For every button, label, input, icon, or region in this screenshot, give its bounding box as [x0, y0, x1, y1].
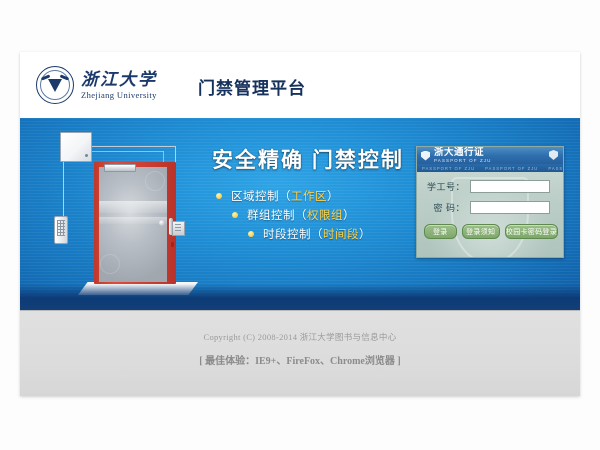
access-control-door-illustration	[44, 124, 204, 306]
wire-top-icon	[90, 146, 176, 148]
keypad-keys-icon	[57, 220, 65, 236]
login-title-cn: 浙大通行证	[434, 148, 492, 158]
red-door-frame	[94, 162, 176, 284]
card-reader-icon	[172, 221, 185, 236]
field-password: 密 码：	[425, 201, 563, 214]
page-title: 门禁管理平台	[198, 74, 306, 99]
login-panel-header: 浙大通行证 PASSPORT OF ZJU	[417, 147, 563, 164]
wire-left-icon	[63, 160, 65, 217]
feature-label: 区域控制（	[231, 188, 291, 204]
door-knob-icon	[159, 220, 165, 226]
feature-label: 时段控制（	[263, 226, 323, 242]
login-button[interactable]: 登录	[424, 224, 457, 239]
footer-copyright: Copyright (C) 2008-2014 浙江大学图书与信息中心	[20, 331, 580, 343]
banner-feature-list: 区域控制（工作区） 群组控制（权限组） 时段控制（时间段）	[216, 186, 426, 243]
shield-icon-secondary	[549, 150, 558, 160]
bullet-dot-icon	[248, 231, 254, 237]
keypad-reader-icon	[54, 216, 68, 244]
login-title-en: PASSPORT OF ZJU	[434, 159, 492, 164]
feature-tail: ）	[359, 226, 371, 242]
brand-logo-text: 浙江大学 Zhejiang University	[81, 71, 157, 100]
feature-highlight: 时间段	[323, 226, 359, 242]
hero-banner: 安全精确 门禁控制 区域控制（工作区） 群组控制（权限组） 时段控制（时间段）	[20, 118, 580, 310]
feature-highlight: 工作区	[291, 188, 327, 204]
seal-bird-icon	[48, 79, 62, 92]
password-label: 密 码：	[425, 201, 465, 214]
wire-top-secondary-icon	[90, 151, 164, 153]
steel-door-leaf	[99, 167, 167, 282]
door-highlight-band	[99, 217, 167, 224]
shield-icon	[421, 151, 430, 161]
login-form: 学工号： 密 码： 登录 登录须知 校园卡密码登录	[417, 172, 563, 239]
field-username: 学工号：	[425, 180, 563, 193]
door-pattern-icon	[100, 254, 120, 274]
site-footer: Copyright (C) 2008-2014 浙江大学图书与信息中心 [ 最佳…	[20, 310, 580, 396]
password-input[interactable]	[470, 201, 550, 214]
footer-browser-note: [ 最佳体验：IE9+、FireFox、Chrome浏览器 ]	[20, 352, 580, 367]
login-marquee-strip: PASSPORT OF ZJU PASSPORT OF ZJU PASSPORT…	[417, 164, 563, 172]
door-closer-icon	[104, 164, 136, 172]
username-label: 学工号：	[425, 180, 465, 193]
login-panel: 浙大通行证 PASSPORT OF ZJU PASSPORT OF ZJU PA…	[416, 146, 564, 258]
main-card: 浙江大学 Zhejiang University 门禁管理平台	[20, 52, 580, 396]
door-status-led-icon	[171, 242, 174, 247]
login-button-row: 登录 登录须知 校园卡密码登录	[424, 224, 563, 239]
campus-card-login-button[interactable]: 校园卡密码登录	[505, 224, 558, 239]
page-root: 浙江大学 Zhejiang University 门禁管理平台	[0, 0, 600, 450]
bullet-dot-icon	[232, 212, 238, 218]
feature-item-time-control: 时段控制（时间段）	[248, 224, 426, 243]
feature-tail: ）	[343, 207, 355, 223]
banner-slogan: 安全精确 门禁控制	[212, 144, 404, 174]
bullet-dot-icon	[216, 193, 222, 199]
site-header: 浙江大学 Zhejiang University 门禁管理平台	[20, 52, 580, 118]
feature-label: 群组控制（	[247, 207, 307, 223]
door-highlight-band	[99, 201, 167, 213]
username-input[interactable]	[470, 180, 550, 193]
controller-box-icon	[60, 132, 92, 162]
marquee-text: PASSPORT OF ZJU	[480, 166, 543, 171]
marquee-text: PASSPORT OF ZJU	[543, 166, 563, 171]
feature-tail: ）	[327, 188, 339, 204]
door-pattern-icon	[145, 171, 165, 191]
marquee-text: PASSPORT OF ZJU	[417, 166, 480, 171]
feature-item-area-control: 区域控制（工作区）	[216, 186, 426, 205]
brand-logo[interactable]: 浙江大学 Zhejiang University	[36, 66, 157, 104]
university-name-cn: 浙江大学	[81, 71, 157, 88]
university-name-en: Zhejiang University	[81, 91, 157, 100]
login-notice-button[interactable]: 登录须知	[462, 224, 500, 239]
banner-bottom-shade	[20, 284, 580, 310]
feature-highlight: 权限组	[307, 207, 343, 223]
login-panel-header-texts: 浙大通行证 PASSPORT OF ZJU	[434, 148, 492, 163]
zju-seal-icon	[36, 66, 74, 104]
feature-item-group-control: 群组控制（权限组）	[232, 205, 426, 224]
